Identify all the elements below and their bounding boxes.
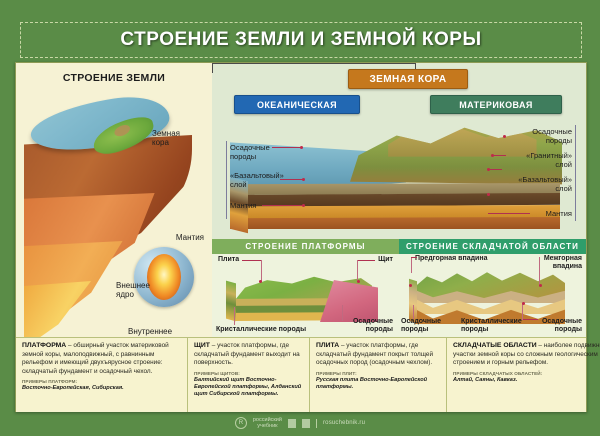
callout-continental-granitic-line1: «Гранитный» bbox=[526, 151, 572, 160]
definition-shield: ЩИТ – участок платформы, где складчатый … bbox=[187, 338, 309, 412]
platform-panel: Плита Щит Кристаллические породы Осадочн… bbox=[212, 254, 399, 337]
label-sedimentary-rocks-fold-left: Осадочные породы bbox=[401, 318, 441, 334]
label-crystalline-fold-line1: Кристаллические bbox=[461, 318, 522, 325]
platform-leader-4v bbox=[342, 305, 343, 321]
drofa-icon bbox=[288, 419, 296, 428]
platform-leader-3v bbox=[234, 307, 235, 325]
label-sed-fold-left-line1: Осадочные bbox=[401, 318, 441, 325]
badge-oceanic-crust: ОКЕАНИЧЕСКАЯ bbox=[234, 95, 360, 114]
platform-leader-2 bbox=[357, 260, 375, 261]
label-outer-core: Внешнее ядро bbox=[116, 281, 170, 300]
poster-footer: R российский учебник rosuchebnik.ru bbox=[0, 416, 600, 430]
label-crystalline-rocks-platform: Кристаллические породы bbox=[216, 326, 306, 334]
callout-oceanic-basaltic-line2: слой bbox=[230, 180, 247, 189]
registered-trademark-icon: R bbox=[235, 417, 247, 429]
publisher-website[interactable]: rosuchebnik.ru bbox=[323, 420, 365, 426]
leader-dot-7 bbox=[487, 193, 490, 196]
fold-dot-4 bbox=[522, 302, 525, 305]
platform-leader-1v bbox=[261, 260, 262, 282]
callout-continental-basaltic-line2: слой bbox=[555, 184, 572, 193]
definition-fold-regions: СКЛАДЧАТЫЕ ОБЛАСТИ – наиболее подвижные … bbox=[446, 338, 600, 412]
label-inner-core-line1: Внутреннее bbox=[128, 327, 172, 336]
definition-shield-term: ЩИТ bbox=[194, 342, 210, 349]
fold-leader-3v bbox=[413, 305, 414, 319]
callout-continental-granitic-line2: слой bbox=[555, 160, 572, 169]
publisher-logo-line2: учебник bbox=[257, 423, 277, 429]
publisher-logo-text: российский учебник bbox=[253, 417, 282, 429]
earth-structure-heading: СТРОЕНИЕ ЗЕМЛИ bbox=[16, 72, 212, 84]
right-callout-rule bbox=[575, 125, 576, 221]
label-earth-crust-line2: кора bbox=[152, 138, 169, 147]
definition-fold-example-body: Алтай, Саяны, Кавказ. bbox=[453, 377, 600, 384]
platform-dot-1 bbox=[259, 280, 262, 283]
definitions-strip: ПЛАТФОРМА – обширный участок материковой… bbox=[16, 337, 586, 412]
label-plate: Плита bbox=[218, 256, 239, 264]
fold-region-panel: Предгорная впадина Межгорная впадина Оса… bbox=[399, 254, 586, 337]
leader-dot-6 bbox=[487, 168, 490, 171]
label-sedimentary-rocks-fold-right: Осадочные породы bbox=[542, 318, 582, 334]
label-mantle: Мантия bbox=[176, 233, 204, 242]
fold-surface-shape bbox=[415, 268, 565, 298]
label-earth-crust: Земная кора bbox=[152, 129, 204, 148]
label-intermontane: Межгорная впадина bbox=[544, 255, 582, 271]
callout-continental-mantle-line1: Мантия bbox=[546, 209, 572, 218]
definition-platform-term: ПЛАТФОРМА bbox=[22, 342, 66, 349]
definition-shield-dash: – bbox=[210, 342, 217, 349]
left-callout-rule bbox=[226, 141, 227, 219]
leader-dot-5 bbox=[491, 154, 494, 157]
label-inner-core: Внутреннее ядро bbox=[128, 327, 190, 337]
leader-line-6 bbox=[488, 169, 502, 170]
leader-dot-4 bbox=[503, 135, 506, 138]
callout-continental-basaltic: «Базальтовый» слой bbox=[504, 175, 572, 193]
label-sedimentary-rocks-platform: Осадочные породы bbox=[353, 318, 393, 334]
poster-card: СТРОЕНИЕ ЗЕМЛИ Земная кора Мантия Внешне… bbox=[15, 62, 587, 412]
label-crystalline-rocks-fold: Кристаллические породы bbox=[461, 318, 522, 334]
label-crystalline-fold-line2: породы bbox=[461, 326, 488, 333]
definition-shield-example-body: Балтийский щит Восточно-Европейской плат… bbox=[194, 377, 304, 398]
platform-leader-2v bbox=[357, 260, 358, 282]
fold-structure-heading: СТРОЕНИЕ СКЛАДЧАТОЙ ОБЛАСТИ bbox=[399, 239, 586, 254]
label-sed-fold-left-line2: породы bbox=[401, 326, 428, 333]
leader-dot-3 bbox=[302, 204, 305, 207]
fold-leader-1h bbox=[411, 257, 417, 258]
badge-earth-crust: ЗЕМНАЯ КОРА bbox=[348, 69, 468, 89]
definition-plate: ПЛИТА – участок платформы, где складчаты… bbox=[309, 338, 446, 412]
ventana-graf-icon bbox=[302, 419, 310, 428]
platform-dot-2 bbox=[357, 280, 360, 283]
leader-line-7 bbox=[488, 213, 530, 214]
callout-oceanic-basaltic-line1: «Базальтовый» bbox=[230, 171, 284, 180]
leader-line-5 bbox=[492, 155, 506, 156]
callout-continental-sedimentary-line1: Осадочные bbox=[532, 127, 572, 136]
label-intermontane-line2: впадина bbox=[553, 263, 582, 270]
label-shield: Щит bbox=[378, 256, 393, 264]
leader-dot-2 bbox=[302, 178, 305, 181]
callout-oceanic-sedimentary-line2: породы bbox=[230, 152, 256, 161]
callout-oceanic-mantle-line1: Мантия bbox=[230, 201, 256, 210]
earth-crust-panel: ЗЕМНАЯ КОРА ОКЕАНИЧЕСКАЯ МАТЕРИКОВАЯ Оса… bbox=[212, 63, 586, 239]
definition-fold-term: СКЛАДЧАТЫЕ ОБЛАСТИ bbox=[453, 342, 537, 349]
label-sedimentary-rocks-platform-line1: Осадочные bbox=[353, 318, 393, 325]
leader-line-3 bbox=[262, 205, 304, 206]
definition-plate-term: ПЛИТА bbox=[316, 342, 339, 349]
callout-continental-sedimentary-line2: породы bbox=[546, 136, 572, 145]
fold-leader-1v bbox=[411, 257, 412, 273]
label-intermontane-line1: Межгорная bbox=[544, 255, 582, 262]
leader-line-1 bbox=[272, 147, 302, 148]
definition-platform-example-body: Восточно-Европейская, Сибирская. bbox=[22, 385, 182, 392]
fold-leader-4v bbox=[522, 304, 523, 320]
poster-root: СТРОЕНИЕ ЗЕМЛИ И ЗЕМНОЙ КОРЫ СТРОЕНИЕ ЗЕ… bbox=[0, 0, 600, 436]
callout-oceanic-basaltic: «Базальтовый» слой bbox=[230, 171, 296, 189]
leader-line-2 bbox=[280, 179, 304, 180]
leader-dot-1 bbox=[300, 146, 303, 149]
badge-continental-crust: МАТЕРИКОВАЯ bbox=[430, 95, 562, 114]
fold-leader-4h bbox=[522, 319, 538, 320]
definition-plate-example-body: Русская плита Восточно-Европейской платф… bbox=[316, 377, 441, 391]
definition-platform: ПЛАТФОРМА – обширный участок материковой… bbox=[16, 338, 187, 412]
label-sedimentary-rocks-platform-line2: породы bbox=[366, 326, 393, 333]
label-foredeep: Предгорная впадина bbox=[415, 255, 487, 263]
mantle-layer-shape-crust bbox=[230, 217, 560, 229]
label-outer-core-line1: Внешнее bbox=[116, 281, 150, 290]
callout-continental-sedimentary: Осадочные породы bbox=[508, 127, 572, 145]
callout-continental-basaltic-line1: «Базальтовый» bbox=[518, 175, 572, 184]
label-outer-core-line2: ядро bbox=[116, 290, 134, 299]
callout-oceanic-sedimentary: Осадочные породы bbox=[230, 143, 292, 161]
callout-oceanic-sedimentary-line1: Осадочные bbox=[230, 143, 270, 152]
fold-leader-2v bbox=[539, 257, 540, 285]
poster-title-band: СТРОЕНИЕ ЗЕМЛИ И ЗЕМНОЙ КОРЫ bbox=[20, 22, 582, 58]
label-sed-fold-right-line1: Осадочные bbox=[542, 318, 582, 325]
label-earth-crust-line1: Земная bbox=[152, 129, 180, 138]
platform-leader-1 bbox=[242, 260, 262, 261]
fold-dot-1 bbox=[409, 284, 412, 287]
label-sed-fold-right-line2: породы bbox=[555, 326, 582, 333]
page-title: СТРОЕНИЕ ЗЕМЛИ И ЗЕМНОЙ КОРЫ bbox=[120, 29, 481, 51]
fold-dot-2 bbox=[539, 284, 542, 287]
callout-continental-granitic: «Гранитный» слой bbox=[506, 151, 572, 169]
platform-structure-heading: СТРОЕНИЕ ПЛАТФОРМЫ bbox=[212, 239, 399, 254]
earth-structure-panel: СТРОЕНИЕ ЗЕМЛИ Земная кора Мантия Внешне… bbox=[16, 63, 213, 337]
earth-cutaway-illustration: Земная кора Мантия Внешнее ядро Внутренн… bbox=[16, 85, 212, 337]
definition-fold-dash: – bbox=[537, 342, 544, 349]
footer-divider bbox=[316, 419, 317, 428]
